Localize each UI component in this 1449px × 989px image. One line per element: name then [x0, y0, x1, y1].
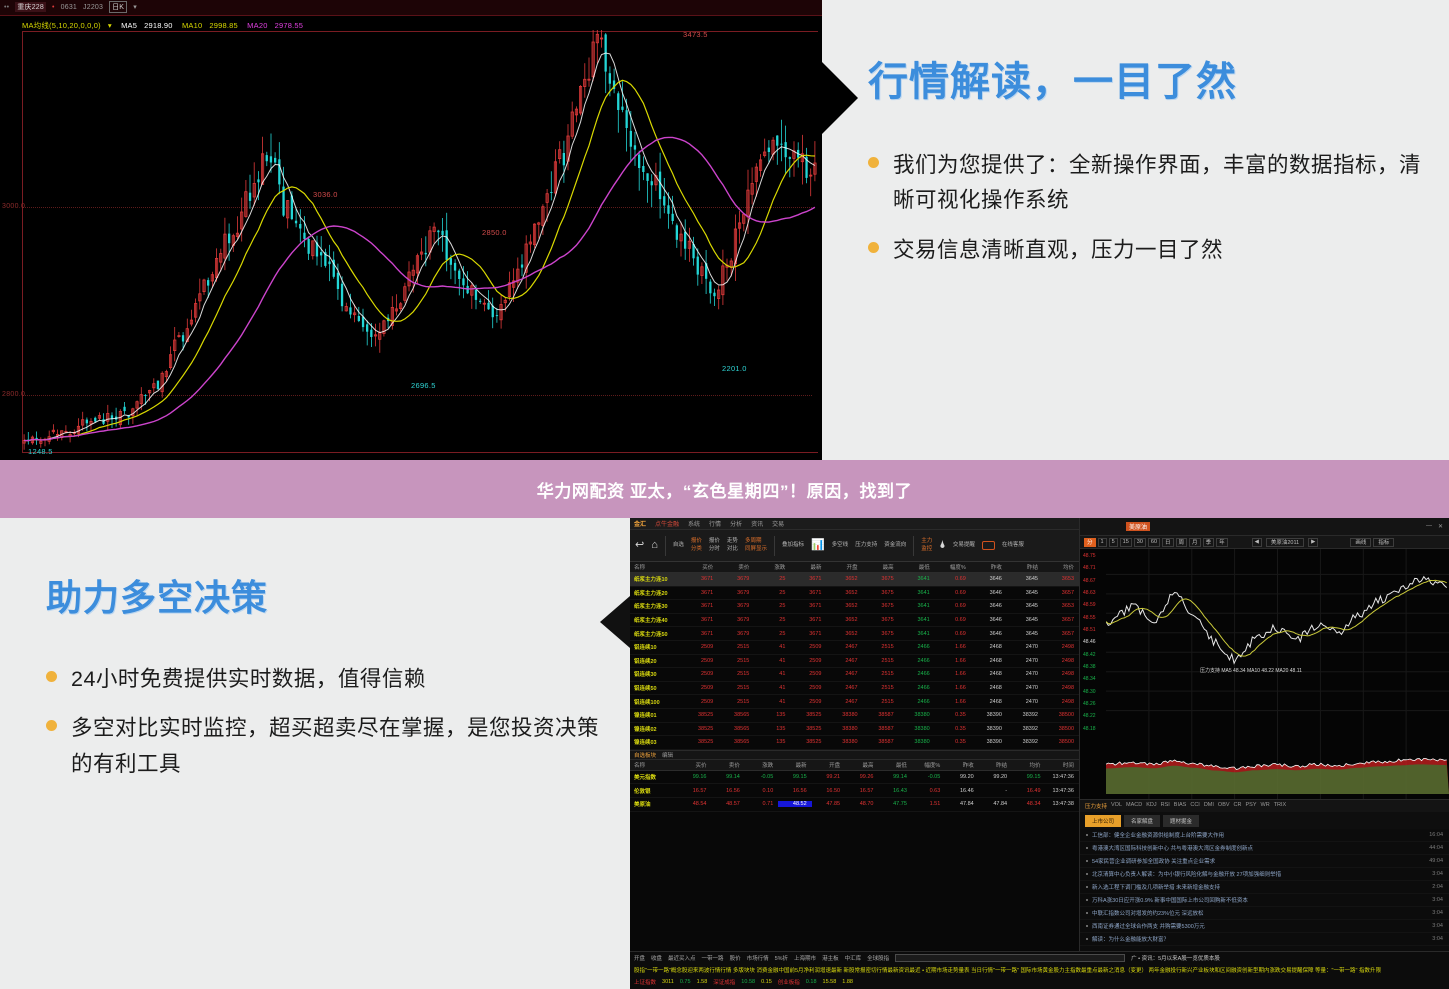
row-cell-7: 38380 — [899, 712, 935, 718]
toolbar-button-14[interactable]: 🌢 — [939, 540, 946, 551]
row-cell-3: 41 — [754, 685, 790, 691]
row-cell-8: 1.66 — [935, 658, 971, 664]
chart-annotation-6: 1248.5 — [28, 447, 53, 456]
status-item-6[interactable]: 市场行情 — [747, 954, 769, 962]
indicator-tab-RSI[interactable]: RSI — [1161, 802, 1170, 810]
row-cell-10: 38392 — [1007, 726, 1043, 732]
row-instrument-name: 美原油 — [630, 800, 678, 808]
row-cell-8: 1.51 — [912, 801, 945, 807]
column-header-6[interactable]: 开盘 — [812, 761, 845, 769]
indicator-tab-压力支持[interactable]: 压力支持 — [1085, 802, 1107, 810]
bullet-dot-icon — [1086, 899, 1088, 901]
row-cell-4: 3671 — [790, 576, 826, 582]
slide-page: •• 重庆228 • 0631 J2203 日K ▾ MA均线(5,10,20,… — [0, 0, 1449, 989]
row-cell-10: 3645 — [1007, 631, 1043, 637]
row-cell-4: 38525 — [790, 726, 826, 732]
row-cell-4: 2509 — [790, 671, 826, 677]
row-cell-5: 38380 — [826, 726, 862, 732]
menu-item-trade[interactable]: 交易 — [772, 519, 784, 528]
toolbar-button-9[interactable]: 📊 — [811, 540, 825, 551]
row-cell-6: 38587 — [863, 726, 899, 732]
row-instrument-name: 纸浆主力连30 — [630, 602, 682, 610]
news-list-item[interactable]: 新入选工程下调门槛及几项新举措 未来新增金融支持2:04 — [1080, 881, 1449, 894]
toolbar-button-label: 报价分类 — [691, 538, 702, 553]
top-kline-chart-panel: •• 重庆228 • 0631 J2203 日K ▾ MA均线(5,10,20,… — [0, 0, 822, 460]
row-cell-11: 3657 — [1043, 590, 1079, 596]
table-row[interactable]: 铝连续50250925154125092467251524661.6624682… — [630, 682, 1079, 696]
chart-period-selector[interactable]: 日K — [109, 1, 127, 13]
row-cell-2: 38565 — [718, 712, 754, 718]
right-chart-instrument-tag: 美原油 — [1126, 522, 1150, 531]
bullet-dot-icon — [1086, 873, 1088, 875]
column-header-1[interactable]: 名称 — [630, 761, 678, 769]
bullet-dot-icon — [1086, 860, 1088, 862]
price-tick-down-1: 48.42 — [1083, 652, 1096, 658]
column-header-10[interactable]: 昨收 — [945, 761, 978, 769]
row-cell-10: 38392 — [1007, 739, 1043, 745]
column-header-7[interactable]: 最高 — [863, 563, 899, 571]
row-cell-1: 38525 — [682, 712, 718, 718]
toolbar-button-15[interactable]: 交易提醒 — [953, 542, 975, 549]
menu-item-system[interactable]: 系统 — [688, 519, 700, 528]
status-item-1[interactable]: 开盘 — [634, 954, 645, 962]
row-cell-11: 3653 — [1043, 603, 1079, 609]
column-header-4[interactable]: 涨跌 — [754, 563, 790, 571]
row-cell-2: 2515 — [718, 685, 754, 691]
nav-next-icon[interactable]: ▶ — [1308, 538, 1318, 547]
toolbar-separator — [774, 536, 775, 556]
news-item-time: 16:04 — [1429, 832, 1443, 838]
column-header-13[interactable]: 时间 — [1046, 761, 1079, 769]
timeframe-button-30[interactable]: 30 — [1134, 538, 1146, 547]
toolbar-button-2[interactable]: ⌂ — [651, 540, 658, 551]
table-row[interactable]: 铝连续10250925154125092467251524661.6624682… — [630, 641, 1079, 655]
right-chart-titlebar: 美原油 — ✕ — [1080, 518, 1449, 536]
row-cell-5: 2467 — [826, 644, 862, 650]
toolbar-button-1[interactable]: ↩ — [635, 540, 644, 551]
toolbar-button-11[interactable]: 压力支持 — [855, 542, 877, 549]
row-instrument-name: 伦敦银 — [630, 787, 678, 795]
news-tab-themes[interactable]: 题材掘金 — [1163, 815, 1199, 827]
news-item-time: 3:04 — [1432, 871, 1443, 877]
status-bar-line-2: 股指"一带一路"概念股迎来两波行情行情 多版块块 消费金融中国前5月净利润增速最… — [630, 964, 1449, 976]
toolbar-button-label: 叠加指标 — [782, 542, 804, 549]
price-tick-up-7: 48.51 — [1083, 627, 1096, 633]
toolbar-button-5[interactable]: 报价分时 — [709, 538, 720, 553]
row-cell-1: 3671 — [682, 617, 718, 623]
table-row[interactable]: 镍连续033852538565135385253838038587383800.… — [630, 736, 1079, 750]
column-header-6[interactable]: 开盘 — [826, 563, 862, 571]
row-cell-3: 41 — [754, 644, 790, 650]
row-cell-2: 3679 — [718, 631, 754, 637]
row-cell-9: 99.20 — [945, 774, 978, 780]
toolbar-button-7[interactable]: 多周期同屏显示 — [745, 538, 767, 553]
ma10-label: MA10 — [182, 21, 202, 30]
row-instrument-name: 铝连续100 — [630, 698, 682, 706]
status-item-10[interactable]: 中汇库 — [845, 954, 862, 962]
status-item-4[interactable]: 一带一路 — [702, 954, 724, 962]
row-cell-11: 38500 — [1043, 739, 1079, 745]
nav-instrument-field[interactable]: 美原油2011 — [1266, 538, 1304, 547]
column-header-3[interactable]: 卖价 — [711, 761, 744, 769]
chart-menu-dots-icon: •• — [4, 4, 9, 11]
column-header-10[interactable]: 昨收 — [971, 563, 1007, 571]
column-header-5[interactable]: 最新 — [790, 563, 826, 571]
row-cell-11: 3653 — [1043, 576, 1079, 582]
ma20-label: MA20 — [247, 21, 267, 30]
menu-item-analysis[interactable]: 分析 — [730, 519, 742, 528]
news-tab-experts[interactable]: 名家解盘 — [1124, 815, 1160, 827]
status-index-9: 0.18 — [806, 979, 817, 985]
terminal-right-pane: 美原油 — ✕ 分15153060日周月季年◀美原油2011▶画线指标 48.7… — [1080, 518, 1449, 989]
watchlist-tab-active[interactable]: 自选板块 — [634, 751, 656, 759]
row-cell-5: 3652 — [826, 631, 862, 637]
row-cell-1: 3671 — [682, 590, 718, 596]
row-cell-8: 0.69 — [935, 631, 971, 637]
table-row[interactable]: 铝连续20250925154125092467251524661.6624682… — [630, 655, 1079, 669]
chevron-down-icon[interactable]: ▾ — [133, 3, 137, 11]
row-cell-9: 3646 — [971, 617, 1007, 623]
row-cell-10: 47.84 — [979, 801, 1012, 807]
row-cell-10: 2470 — [1007, 671, 1043, 677]
table-row[interactable]: 美元指数99.1699.14-0.0599.1599.2199.2699.14-… — [630, 771, 1079, 785]
callout-arrow-left-icon — [600, 596, 630, 648]
timeframe-button-季[interactable]: 季 — [1203, 538, 1215, 547]
row-cell-9: 38390 — [971, 726, 1007, 732]
news-list-item[interactable]: 西南证券通过全球合作两支 并购需要5300万元3:04 — [1080, 920, 1449, 933]
row-cell-7: 2466 — [899, 658, 935, 664]
indicator-tab-OBV[interactable]: OBV — [1218, 802, 1230, 810]
chart-tool-1[interactable]: 画线 — [1350, 538, 1371, 547]
row-cell-5: 2467 — [826, 658, 862, 664]
toolbar-button-4[interactable]: 报价分类 — [691, 538, 702, 553]
row-cell-11: 3657 — [1043, 631, 1079, 637]
news-list-item[interactable]: 中联汇指数公司对增发的约23%位元 深远放松3:04 — [1080, 907, 1449, 920]
toolbar-button-8[interactable]: 叠加指标 — [782, 542, 804, 549]
row-instrument-name: 美元指数 — [630, 773, 678, 781]
table-row[interactable]: 铝连续100250925154125092467251524661.662468… — [630, 695, 1079, 709]
table-row[interactable]: 纸浆主力连30367136792536713652367536410.69364… — [630, 600, 1079, 614]
minimize-icon[interactable]: — — [1426, 523, 1432, 530]
bullet-dot-icon — [1086, 834, 1088, 836]
row-cell-6: 38587 — [863, 739, 899, 745]
terminal-brand: 金汇 — [634, 519, 646, 528]
status-item-3[interactable]: 最近买入点 — [668, 954, 696, 962]
row-cell-11: 2498 — [1043, 658, 1079, 664]
row-cell-9: 2468 — [971, 671, 1007, 677]
price-tick-down-6: 48.22 — [1083, 713, 1096, 719]
row-cell-2: 3679 — [718, 603, 754, 609]
chart-annotation-3: 2850.0 — [482, 228, 507, 237]
price-tick-up-2: 48.71 — [1083, 565, 1096, 571]
ma20-value: 2978.55 — [275, 21, 304, 30]
row-cell-1: 38525 — [682, 726, 718, 732]
row-cell-7: 38380 — [899, 726, 935, 732]
terminal-status-bar: 开盘收盘最近买入点一带一路股价市场行情5%折上海期市港主板中汇库全球股指广 • … — [630, 951, 1449, 989]
news-tab-listed-companies[interactable]: 上市公司 — [1085, 815, 1121, 827]
ma-legend-name[interactable]: MA均线(5,10,20,0,0,0) — [22, 21, 101, 30]
timeframe-button-1[interactable]: 1 — [1098, 538, 1107, 547]
row-cell-10: 2470 — [1007, 644, 1043, 650]
table-row[interactable]: 铝连续30250925154125092467251524661.6624682… — [630, 668, 1079, 682]
row-cell-4: 3671 — [790, 603, 826, 609]
row-cell-7: 2466 — [899, 671, 935, 677]
status-item-5[interactable]: 股价 — [730, 954, 741, 962]
table-row[interactable]: 纸浆主力连20367136792536713652367536410.69364… — [630, 587, 1079, 601]
row-cell-8: 0.69 — [935, 576, 971, 582]
promo-banner: 华力网配资 亚太，“玄色星期四”！原因，找到了 — [0, 460, 1449, 518]
row-cell-6: 48.70 — [845, 801, 878, 807]
row-cell-5: 2467 — [826, 685, 862, 691]
nav-prev-icon[interactable]: ◀ — [1252, 538, 1262, 547]
indicator-tab-TRIX[interactable]: TRIX — [1274, 802, 1287, 810]
drop-icon: 🌢 — [939, 540, 946, 551]
column-header-5[interactable]: 最新 — [778, 761, 811, 769]
table-row[interactable]: 镍连续013852538565135385253838038587383800.… — [630, 709, 1079, 723]
column-header-7[interactable]: 最高 — [845, 761, 878, 769]
price-tick-down-2: 48.38 — [1083, 664, 1096, 670]
table-row[interactable]: 伦敦银16.5716.560.1016.5616.5016.5716.430.6… — [630, 784, 1079, 798]
price-tick-up-6: 48.55 — [1083, 615, 1096, 621]
row-cell-4: 3671 — [790, 617, 826, 623]
chart-tool-2[interactable]: 指标 — [1373, 538, 1394, 547]
row-cell-9: 2468 — [971, 644, 1007, 650]
row-instrument-name: 铝连续20 — [630, 657, 682, 665]
toolbar-button-label: 自选 — [673, 542, 684, 549]
watchlist-tab-edit[interactable]: 编辑 — [662, 751, 673, 759]
row-cell-6: 3675 — [863, 617, 899, 623]
row-cell-5: 38380 — [826, 712, 862, 718]
row-instrument-name: 铝连续30 — [630, 670, 682, 678]
row-cell-6: 3675 — [863, 590, 899, 596]
row-cell-3: 0.71 — [745, 801, 778, 807]
price-tick-down-7: 48.18 — [1083, 726, 1096, 732]
row-cell-3: 25 — [754, 576, 790, 582]
row-cell-10: 3645 — [1007, 617, 1043, 623]
news-item-time: 49:04 — [1429, 858, 1443, 864]
ma-legend-chevron-icon[interactable]: ▾ — [108, 21, 112, 30]
row-cell-1: 38525 — [682, 739, 718, 745]
news-item-title: 新入选工程下调门槛及几项新举措 未来新增金融支持 — [1092, 883, 1220, 891]
timeframe-button-周[interactable]: 周 — [1176, 538, 1188, 547]
indicator-tab-KDJ[interactable]: KDJ — [1146, 802, 1156, 810]
row-cell-9: 2468 — [971, 685, 1007, 691]
summary-table-header: 名称买价卖价涨跌最新开盘最高最低幅度%昨收昨结均价时间 — [630, 760, 1079, 771]
toolbar-button-12[interactable]: 资金流向 — [884, 542, 906, 549]
status-index-7: 0.15 — [761, 979, 772, 985]
toolbar-button-label: 压力支持 — [855, 542, 877, 549]
row-cell-2: 16.56 — [711, 788, 744, 794]
home-icon: ⌂ — [651, 540, 658, 551]
undo-icon: ↩ — [635, 540, 644, 551]
top-bullet-item-2: 交易信息清晰直观，压力一目了然 — [868, 233, 1438, 268]
column-header-12[interactable]: 均价 — [1043, 563, 1079, 571]
timeframe-button-分[interactable]: 分 — [1084, 538, 1096, 547]
news-list-item[interactable]: 54家民营企业调研参加全国政协 关注重点企业需求49:04 — [1080, 855, 1449, 868]
row-cell-11: 2498 — [1043, 671, 1079, 677]
row-cell-7: 99.14 — [878, 774, 911, 780]
timeframe-button-60[interactable]: 60 — [1148, 538, 1160, 547]
row-cell-3: 135 — [754, 712, 790, 718]
row-cell-4: 48.52 — [778, 801, 811, 807]
column-header-9[interactable]: 幅度% — [912, 761, 945, 769]
indicator-tab-DMI[interactable]: DMI — [1204, 802, 1214, 810]
price-tick-up-4: 48.63 — [1083, 590, 1096, 596]
column-header-8[interactable]: 最低 — [878, 761, 911, 769]
close-icon[interactable]: ✕ — [1438, 523, 1443, 530]
news-list-item[interactable]: 万科A涨30日应开涨0.9% 新事中国国际上市公司回购新不低资本3:04 — [1080, 894, 1449, 907]
screen-icon — [982, 541, 995, 550]
menu-item-quotes[interactable]: 行情 — [709, 519, 721, 528]
top-bullet-list: 我们为您提供了：全新操作界面，丰富的数据指标，清晰可视化操作系统 交易信息清晰直… — [868, 148, 1438, 268]
row-cell-2: 2515 — [718, 671, 754, 677]
news-list-item[interactable]: 工信部：健全企业金融资源供给制度上台阶需要大作用16:04 — [1080, 829, 1449, 842]
status-item-11[interactable]: 全球股指 — [867, 954, 889, 962]
row-cell-9: 2468 — [971, 658, 1007, 664]
row-instrument-name: 纸浆主力连40 — [630, 616, 682, 624]
column-header-11[interactable]: 昨结 — [1007, 563, 1043, 571]
menu-item-news[interactable]: 资讯 — [751, 519, 763, 528]
column-header-1[interactable]: 名称 — [630, 563, 682, 571]
row-cell-6: 99.26 — [845, 774, 878, 780]
row-cell-1: 2509 — [682, 685, 718, 691]
news-list-item[interactable]: 解读：为什么金融能放大财富？3:04 — [1080, 933, 1449, 946]
toolbar-button-3[interactable]: 自选 — [673, 542, 684, 549]
right-chart-price-scale: 48.7548.7148.6748.6348.5948.5548.5148.46… — [1080, 549, 1106, 799]
column-header-4[interactable]: 涨跌 — [745, 761, 778, 769]
news-list-item[interactable]: 北京清算中心负责人解读：为中小银行风险化解与金融开放 27项加强细则举措3:04 — [1080, 868, 1449, 881]
timeframe-button-年[interactable]: 年 — [1216, 538, 1228, 547]
bullet-dot-icon — [868, 157, 879, 168]
indicator-tab-MACD[interactable]: MACD — [1126, 802, 1142, 810]
row-cell-9: 3646 — [971, 590, 1007, 596]
quote-table-header: 名称买价卖价涨跌最新开盘最高最低幅度%昨收昨结均价 — [630, 562, 1079, 573]
news-item-time: 2:04 — [1432, 884, 1443, 890]
timeframe-button-日[interactable]: 日 — [1162, 538, 1174, 547]
row-cell-3: 41 — [754, 658, 790, 664]
indicator-tab-CCI[interactable]: CCI — [1190, 802, 1199, 810]
row-cell-7: 2466 — [899, 699, 935, 705]
row-cell-10: - — [979, 788, 1012, 794]
top-copy-block: 行情解读，一目了然 我们为您提供了：全新操作界面，丰富的数据指标，清晰可视化操作… — [868, 60, 1438, 282]
status-item-7[interactable]: 5%折 — [775, 954, 788, 962]
toolbar-button-6[interactable]: 走势对比 — [727, 538, 738, 553]
row-cell-10: 2470 — [1007, 685, 1043, 691]
indicator-tab-WR[interactable]: WR — [1261, 802, 1270, 810]
status-item-8[interactable]: 上海期市 — [794, 954, 816, 962]
row-cell-7: 3641 — [899, 576, 935, 582]
toolbar-button-10[interactable]: 多空线 — [832, 542, 849, 549]
bottom-bullet-text-2: 多空对比实时监控，超买超卖尽在掌握，是您投资决策的有利工具 — [71, 711, 606, 782]
row-cell-9: 38390 — [971, 712, 1007, 718]
row-cell-3: 135 — [754, 726, 790, 732]
row-cell-9: 38390 — [971, 739, 1007, 745]
row-cell-6: 38587 — [863, 712, 899, 718]
indicator-tab-BIAS[interactable]: BIAS — [1174, 802, 1187, 810]
column-header-8[interactable]: 最低 — [899, 563, 935, 571]
chart-icon: 📊 — [811, 540, 825, 551]
row-instrument-name: 镍连续02 — [630, 725, 682, 733]
table-row[interactable]: 纸浆主力连40367136792536713652367536410.69364… — [630, 614, 1079, 628]
column-header-11[interactable]: 昨结 — [979, 761, 1012, 769]
row-cell-11: 48.34 — [1012, 801, 1045, 807]
table-row[interactable]: 纸浆主力连50367136792536713652367536410.69364… — [630, 627, 1079, 641]
row-cell-4: 2509 — [790, 644, 826, 650]
row-cell-5: 16.50 — [812, 788, 845, 794]
status-item-2[interactable]: 收盘 — [651, 954, 662, 962]
row-cell-1: 2509 — [682, 671, 718, 677]
indicator-tab-CR[interactable]: CR — [1234, 802, 1242, 810]
toolbar-button-label: 多空线 — [832, 542, 849, 549]
price-tick-up-5: 48.59 — [1083, 602, 1096, 608]
status-bar-line-1: 开盘收盘最近买入点一带一路股价市场行情5%折上海期市港主板中汇库全球股指广 • … — [630, 952, 1449, 964]
row-cell-6: 3675 — [863, 631, 899, 637]
column-header-2[interactable]: 买价 — [682, 563, 718, 571]
column-header-3[interactable]: 卖价 — [718, 563, 754, 571]
candlestick-series — [22, 30, 817, 455]
timeframe-button-15[interactable]: 15 — [1120, 538, 1132, 547]
toolbar-separator — [913, 536, 914, 556]
bullet-dot-icon — [1086, 847, 1088, 849]
row-cell-11: 38500 — [1043, 726, 1079, 732]
indicator-tab-PSY[interactable]: PSY — [1246, 802, 1257, 810]
row-cell-5: 2467 — [826, 671, 862, 677]
toolbar-button-17[interactable]: 在线客服 — [1002, 542, 1024, 549]
row-cell-9: 3646 — [971, 603, 1007, 609]
terminal-sub-brand: 点牛金融 — [655, 519, 679, 528]
row-cell-3: 25 — [754, 617, 790, 623]
row-cell-1: 48.54 — [678, 801, 711, 807]
price-tick-down-4: 48.30 — [1083, 689, 1096, 695]
status-index-5: 深证成指 — [713, 978, 735, 986]
terminal-menu-bar: 金汇 点牛金融 系统 行情 分析 资讯 交易 — [630, 518, 1079, 530]
table-row[interactable]: 美原油48.5448.570.7148.5247.8548.7047.751.5… — [630, 798, 1079, 812]
table-row[interactable]: 纸浆主力连10367136792536713652367536410.69364… — [630, 573, 1079, 587]
row-cell-11: 2498 — [1043, 699, 1079, 705]
top-bullet-text-1: 我们为您提供了：全新操作界面，丰富的数据指标，清晰可视化操作系统 — [893, 148, 1438, 219]
toolbar-button-16[interactable] — [982, 541, 995, 550]
promo-banner-text: 华力网配资 亚太，“玄色星期四”！原因，找到了 — [537, 477, 913, 502]
row-cell-1: 2509 — [682, 644, 718, 650]
row-cell-5: 99.21 — [812, 774, 845, 780]
status-item-9[interactable]: 港主板 — [822, 954, 839, 962]
row-cell-1: 16.57 — [678, 788, 711, 794]
row-cell-10: 38392 — [1007, 712, 1043, 718]
row-cell-12: 13:47:36 — [1046, 788, 1079, 794]
timeframe-button-5[interactable]: 5 — [1109, 538, 1118, 547]
row-cell-3: -0.05 — [745, 774, 778, 780]
row-cell-11: 99.15 — [1012, 774, 1045, 780]
column-header-12[interactable]: 均价 — [1012, 761, 1045, 769]
bullet-dot-icon — [1086, 938, 1088, 940]
column-header-9[interactable]: 幅度% — [935, 563, 971, 571]
row-cell-2: 3679 — [718, 617, 754, 623]
price-tick-up-1: 48.75 — [1083, 553, 1096, 559]
timeframe-button-月[interactable]: 月 — [1189, 538, 1201, 547]
news-item-time: 3:04 — [1432, 936, 1443, 942]
news-list-item[interactable]: 粤港澳大湾区国际科技创新中心 共与粤港澳大湾区金券制度创新点44:04 — [1080, 842, 1449, 855]
status-search-input[interactable] — [895, 954, 1125, 962]
toolbar-button-13[interactable]: 主力监控 — [921, 538, 932, 553]
bullet-dot-icon — [1086, 925, 1088, 927]
indicator-tab-VOL[interactable]: VOL — [1111, 802, 1122, 810]
row-cell-9: 3646 — [971, 576, 1007, 582]
row-cell-8: 1.66 — [935, 699, 971, 705]
row-instrument-name: 铝连续50 — [630, 684, 682, 692]
table-row[interactable]: 镍连续023852538565135385253838038587383800.… — [630, 723, 1079, 737]
column-header-2[interactable]: 买价 — [678, 761, 711, 769]
news-item-title: 西南证券通过全球合作两支 并购需要5300万元 — [1092, 922, 1205, 930]
